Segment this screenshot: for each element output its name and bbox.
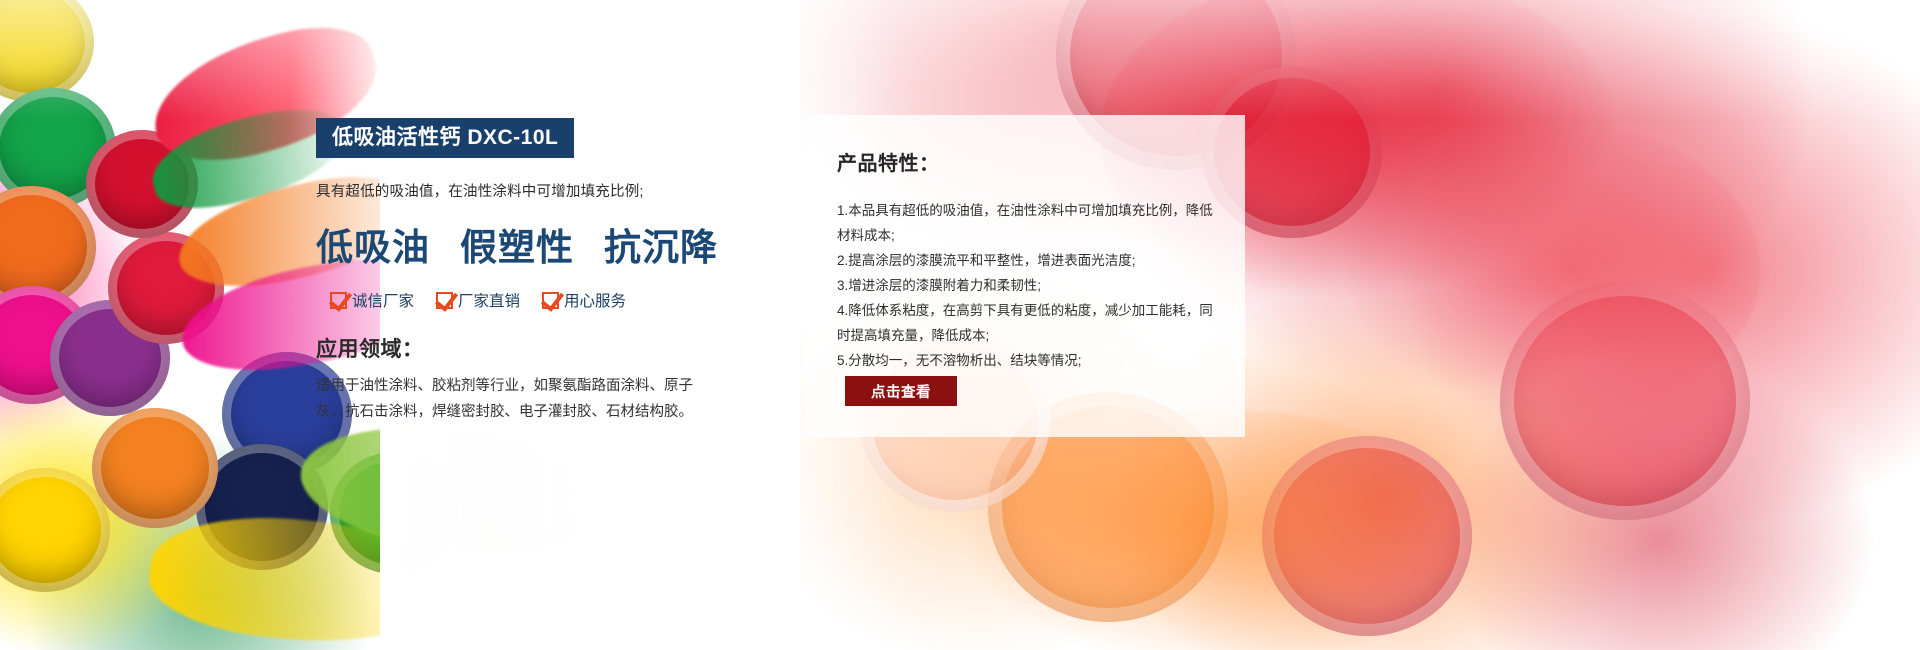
paint-dish-crimson (1262, 436, 1472, 636)
trust-badge-1-label: 诚信厂家 (352, 289, 414, 311)
headline-feature-3: 抗沉降 (604, 217, 718, 271)
feature-item: 5.分散均一，无不溶物析出、结块等情况; (837, 348, 1215, 373)
checkbox-checked-icon (542, 292, 559, 309)
left-content-column: 低吸油活性钙 DXC-10L 具有超低的吸油值，在油性涂料中可增加填充比例; 低… (316, 118, 736, 425)
feature-item: 1.本品具有超低的吸油值，在油性涂料中可增加填充比例，降低材料成本; (837, 198, 1215, 248)
paint-dish-red-right (1500, 282, 1750, 520)
paint-pot-orange (0, 186, 96, 308)
paint-splash-orange (960, 410, 1480, 650)
trust-badge-2: 厂家直销 (436, 289, 520, 311)
product-banner: 低吸油活性钙 DXC-10L 具有超低的吸油值，在油性涂料中可增加填充比例; 低… (0, 0, 1920, 650)
checkbox-checked-icon (330, 292, 347, 309)
product-title-badge: 低吸油活性钙 DXC-10L (316, 118, 574, 158)
feature-item: 2.提高涂层的漆膜流平和平整性，增进表面光洁度; (837, 248, 1215, 273)
product-subtitle: 具有超低的吸油值，在油性涂料中可增加填充比例; (316, 180, 736, 201)
top-fade-overlay (0, 0, 1920, 120)
paint-pot-green (0, 88, 116, 208)
application-domain-body: 适用于油性涂料、胶粘剂等行业，如聚氨酯路面涂料、原子灰、抗石击涂料，焊缝密封胶、… (316, 373, 716, 425)
features-list: 1.本品具有超低的吸油值，在油性涂料中可增加填充比例，降低材料成本; 2.提高涂… (837, 198, 1215, 373)
headline-feature-1: 低吸油 (316, 217, 430, 271)
paint-smear-lime (293, 410, 607, 571)
trust-badge-3: 用心服务 (542, 289, 626, 311)
view-details-button[interactable]: 点击查看 (845, 376, 957, 406)
paint-pot-crimson (108, 232, 224, 344)
feature-item: 3.增进涂层的漆膜附着力和柔韧性; (837, 273, 1215, 298)
paint-pot-red-dark (86, 130, 198, 238)
paint-pot-yellow-2 (0, 468, 110, 592)
paint-pot-orange-2 (92, 408, 218, 528)
paint-pot-green-lime (330, 452, 458, 574)
paint-pot-yellow (0, 0, 94, 102)
trust-badges: 诚信厂家 厂家直销 用心服务 (330, 289, 736, 311)
paint-pot-navy (196, 444, 328, 570)
application-domain-title: 应用领域： (316, 333, 736, 363)
headline-feature-2: 假塑性 (460, 217, 574, 271)
paint-pot-purple (50, 300, 170, 416)
trust-badge-1: 诚信厂家 (330, 289, 414, 311)
paint-pot-magenta (0, 286, 94, 404)
trust-badge-2-label: 厂家直销 (458, 289, 520, 311)
checkbox-checked-icon (436, 292, 453, 309)
headline-features: 低吸油 假塑性 抗沉降 (316, 217, 736, 271)
features-panel-title: 产品特性： (837, 147, 1215, 176)
trust-badge-3-label: 用心服务 (564, 289, 626, 311)
paint-splash-red-flow (1340, 120, 1760, 420)
feature-item: 4.降低体系粘度，在高剪下具有更低的粘度，减少加工能耗，同时提高填充量，降低成本… (837, 298, 1215, 348)
paint-smear-yellow (145, 505, 456, 650)
